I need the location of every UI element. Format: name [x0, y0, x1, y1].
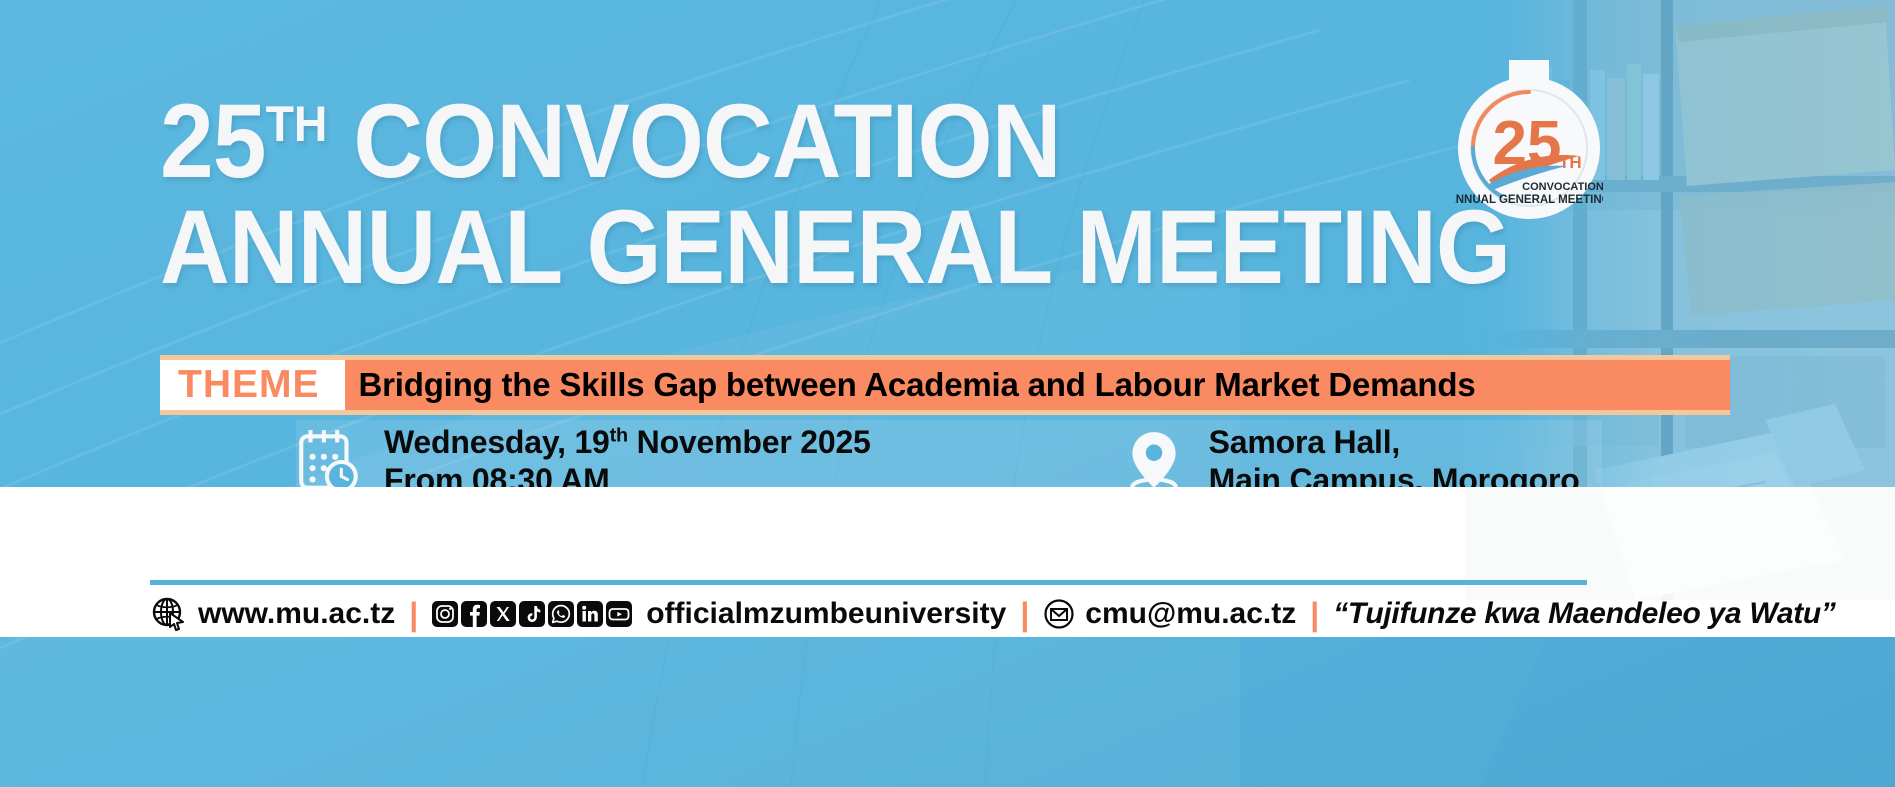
title-line-1: 25TH CONVOCATION	[160, 92, 1466, 192]
venue-line-1: Samora Hall,	[1209, 424, 1580, 462]
social-handle-text: officialmzumbeuniversity	[646, 597, 1006, 631]
title-number: 25	[160, 83, 266, 200]
linkedin-icon[interactable]	[577, 601, 603, 627]
theme-label: THEME	[160, 360, 338, 410]
website-item[interactable]: www.mu.ac.tz	[150, 595, 395, 633]
facebook-icon[interactable]	[461, 601, 487, 627]
globe-cursor-icon	[150, 595, 188, 633]
date-line-1-pre: Wednesday, 19	[384, 424, 610, 460]
date-ordinal-suffix: th	[610, 424, 628, 446]
email-text: cmu@mu.ac.tz	[1085, 597, 1296, 631]
separator-3: |	[1310, 596, 1319, 633]
theme-rule-bottom	[160, 410, 1730, 415]
website-text: www.mu.ac.tz	[198, 597, 395, 631]
theme-row: THEME Bridging the Skills Gap between Ac…	[160, 360, 1730, 410]
email-envelope-icon	[1043, 598, 1075, 630]
footer-contact-row: www.mu.ac.tz |	[150, 592, 1836, 636]
tiktok-icon[interactable]	[519, 601, 545, 627]
title-line-2: ANNUAL GENERAL MEETING	[160, 198, 1466, 298]
title-ordinal-suffix: TH	[266, 95, 328, 152]
main-title: 25TH CONVOCATION ANNUAL GENERAL MEETING	[160, 92, 1580, 298]
social-icons-row	[432, 601, 632, 627]
theme-bar: THEME Bridging the Skills Gap between Ac…	[160, 355, 1730, 415]
youtube-icon[interactable]	[606, 601, 632, 627]
instagram-icon[interactable]	[432, 601, 458, 627]
email-item[interactable]: cmu@mu.ac.tz	[1043, 597, 1296, 631]
motto-text: “Tujifunze kwa Maendeleo ya Watu”	[1333, 597, 1835, 631]
date-line-1: Wednesday, 19th November 2025	[384, 424, 871, 462]
separator-1: |	[409, 596, 418, 633]
footer-divider-line	[150, 580, 1587, 585]
title-line-1-rest: CONVOCATION	[327, 83, 1060, 200]
x-twitter-icon[interactable]	[490, 601, 516, 627]
convocation-banner: 25 TH CONVOCATION ANNUAL GENERAL MEETING…	[0, 0, 1895, 787]
separator-2: |	[1020, 596, 1029, 633]
theme-gap	[338, 360, 345, 410]
date-line-1-post: November 2025	[628, 424, 871, 460]
whatsapp-icon[interactable]	[548, 601, 574, 627]
theme-text: Bridging the Skills Gap between Academia…	[345, 360, 1731, 410]
